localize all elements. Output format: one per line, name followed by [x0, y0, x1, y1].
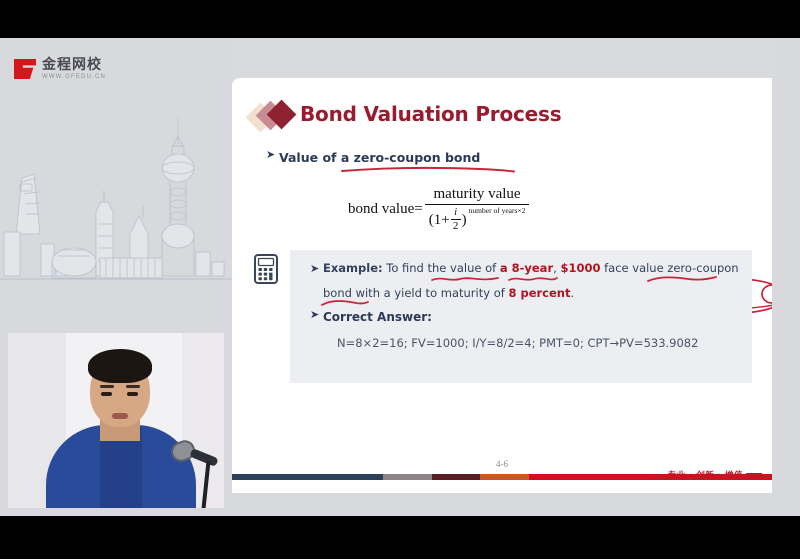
slide-title: Bond Valuation Process — [300, 102, 561, 126]
presenter-eye-right — [127, 392, 138, 396]
formula-fraction: maturity value (1+ i 2 ) number of years… — [425, 186, 530, 232]
example-text-e: . — [570, 286, 574, 300]
gfedu-logo-icon — [14, 59, 36, 79]
highlight-1000: $1000 — [560, 261, 600, 275]
video-player-root: 金程网校 WWW.GFEDU.CN — [0, 0, 800, 559]
formula-exponent: number of years×2 — [469, 206, 526, 215]
brand-url: WWW.GFEDU.CN — [42, 74, 106, 80]
bullet-arrow-icon: ➤ — [266, 150, 279, 161]
bullet-zero-coupon: ➤ Value of a zero-coupon bond — [266, 150, 480, 165]
bullet-arrow-icon-2: ➤ — [310, 310, 323, 321]
presenter-mouth — [112, 413, 128, 419]
highlight-8-year: a 8-year — [500, 261, 553, 275]
presenter-video[interactable] — [8, 333, 224, 508]
formula-lhs: bond value= — [348, 201, 423, 218]
formula-denominator: (1+ i 2 ) number of years×2 — [425, 205, 530, 232]
presenter-eye-left — [101, 392, 112, 396]
example-line-1: ➤Example: To find the value of a 8-year,… — [310, 262, 746, 275]
footer-seg-orange — [480, 474, 529, 480]
calculator-icon — [254, 254, 278, 284]
annotation-squiggle-1000 — [507, 274, 559, 284]
brand-name-cn: 金程网校 — [42, 58, 106, 72]
right-gutter — [772, 38, 800, 516]
slide-page-number: 4-6 — [232, 459, 772, 469]
bullet-correct-answer: ➤ Correct Answer: — [310, 310, 432, 324]
footer-seg-navy — [232, 474, 383, 480]
presenter-brow-left — [100, 385, 114, 388]
annotation-squiggle-zero-coupon — [646, 274, 718, 284]
shanghai-skyline-icon — [0, 116, 232, 316]
bullet-text: Value of a zero-coupon bond — [279, 150, 480, 165]
slide-title-row: Bond Valuation Process — [250, 102, 561, 126]
answer-calculation: N=8×2=16; FV=1000; I/Y=8/2=4; PMT=0; CPT… — [337, 336, 698, 350]
annotation-squiggle-8-year — [430, 274, 500, 284]
bottom-gutter — [232, 493, 800, 516]
bond-value-formula: bond value= maturity value (1+ i 2 ) num… — [348, 186, 529, 232]
formula-numerator: maturity value — [430, 186, 525, 204]
brand-logo: 金程网校 WWW.GFEDU.CN — [14, 58, 106, 80]
footer-tagline: 专业 · 创新 · 增值 — [668, 469, 762, 481]
annotation-underline-zero-coupon-bond — [340, 166, 516, 174]
example-bullet-arrow-icon: ➤ — [310, 263, 323, 274]
presenter-column: 金程网校 WWW.GFEDU.CN — [0, 38, 232, 516]
lecture-stage: 金程网校 WWW.GFEDU.CN — [0, 38, 800, 516]
presenter-brow-right — [126, 385, 140, 388]
presenter-hair — [88, 349, 152, 383]
example-text-c: face value zero-coupon — [600, 261, 738, 275]
footer-seg-gray — [383, 474, 432, 480]
footer-tagline-text: 专业 · 创新 · 增值 — [668, 471, 743, 481]
formula-den-open: (1+ — [429, 212, 450, 229]
footer-seg-maroon — [432, 474, 481, 480]
presentation-slide: Bond Valuation Process ➤ Value of a zero… — [232, 78, 772, 493]
bullet-text-2: Correct Answer: — [323, 310, 432, 324]
footer-dash-icon — [746, 473, 762, 478]
formula-i-over-2: i 2 — [451, 208, 461, 232]
formula-den-close: ) — [462, 212, 467, 229]
annotation-squiggle-bond — [320, 298, 370, 308]
example-label: Example: — [323, 261, 383, 275]
formula-two: 2 — [453, 221, 459, 232]
example-text-a: To find the value of — [383, 261, 500, 275]
formula-i: i — [454, 208, 457, 218]
highlight-8-percent: 8 percent — [508, 286, 570, 300]
